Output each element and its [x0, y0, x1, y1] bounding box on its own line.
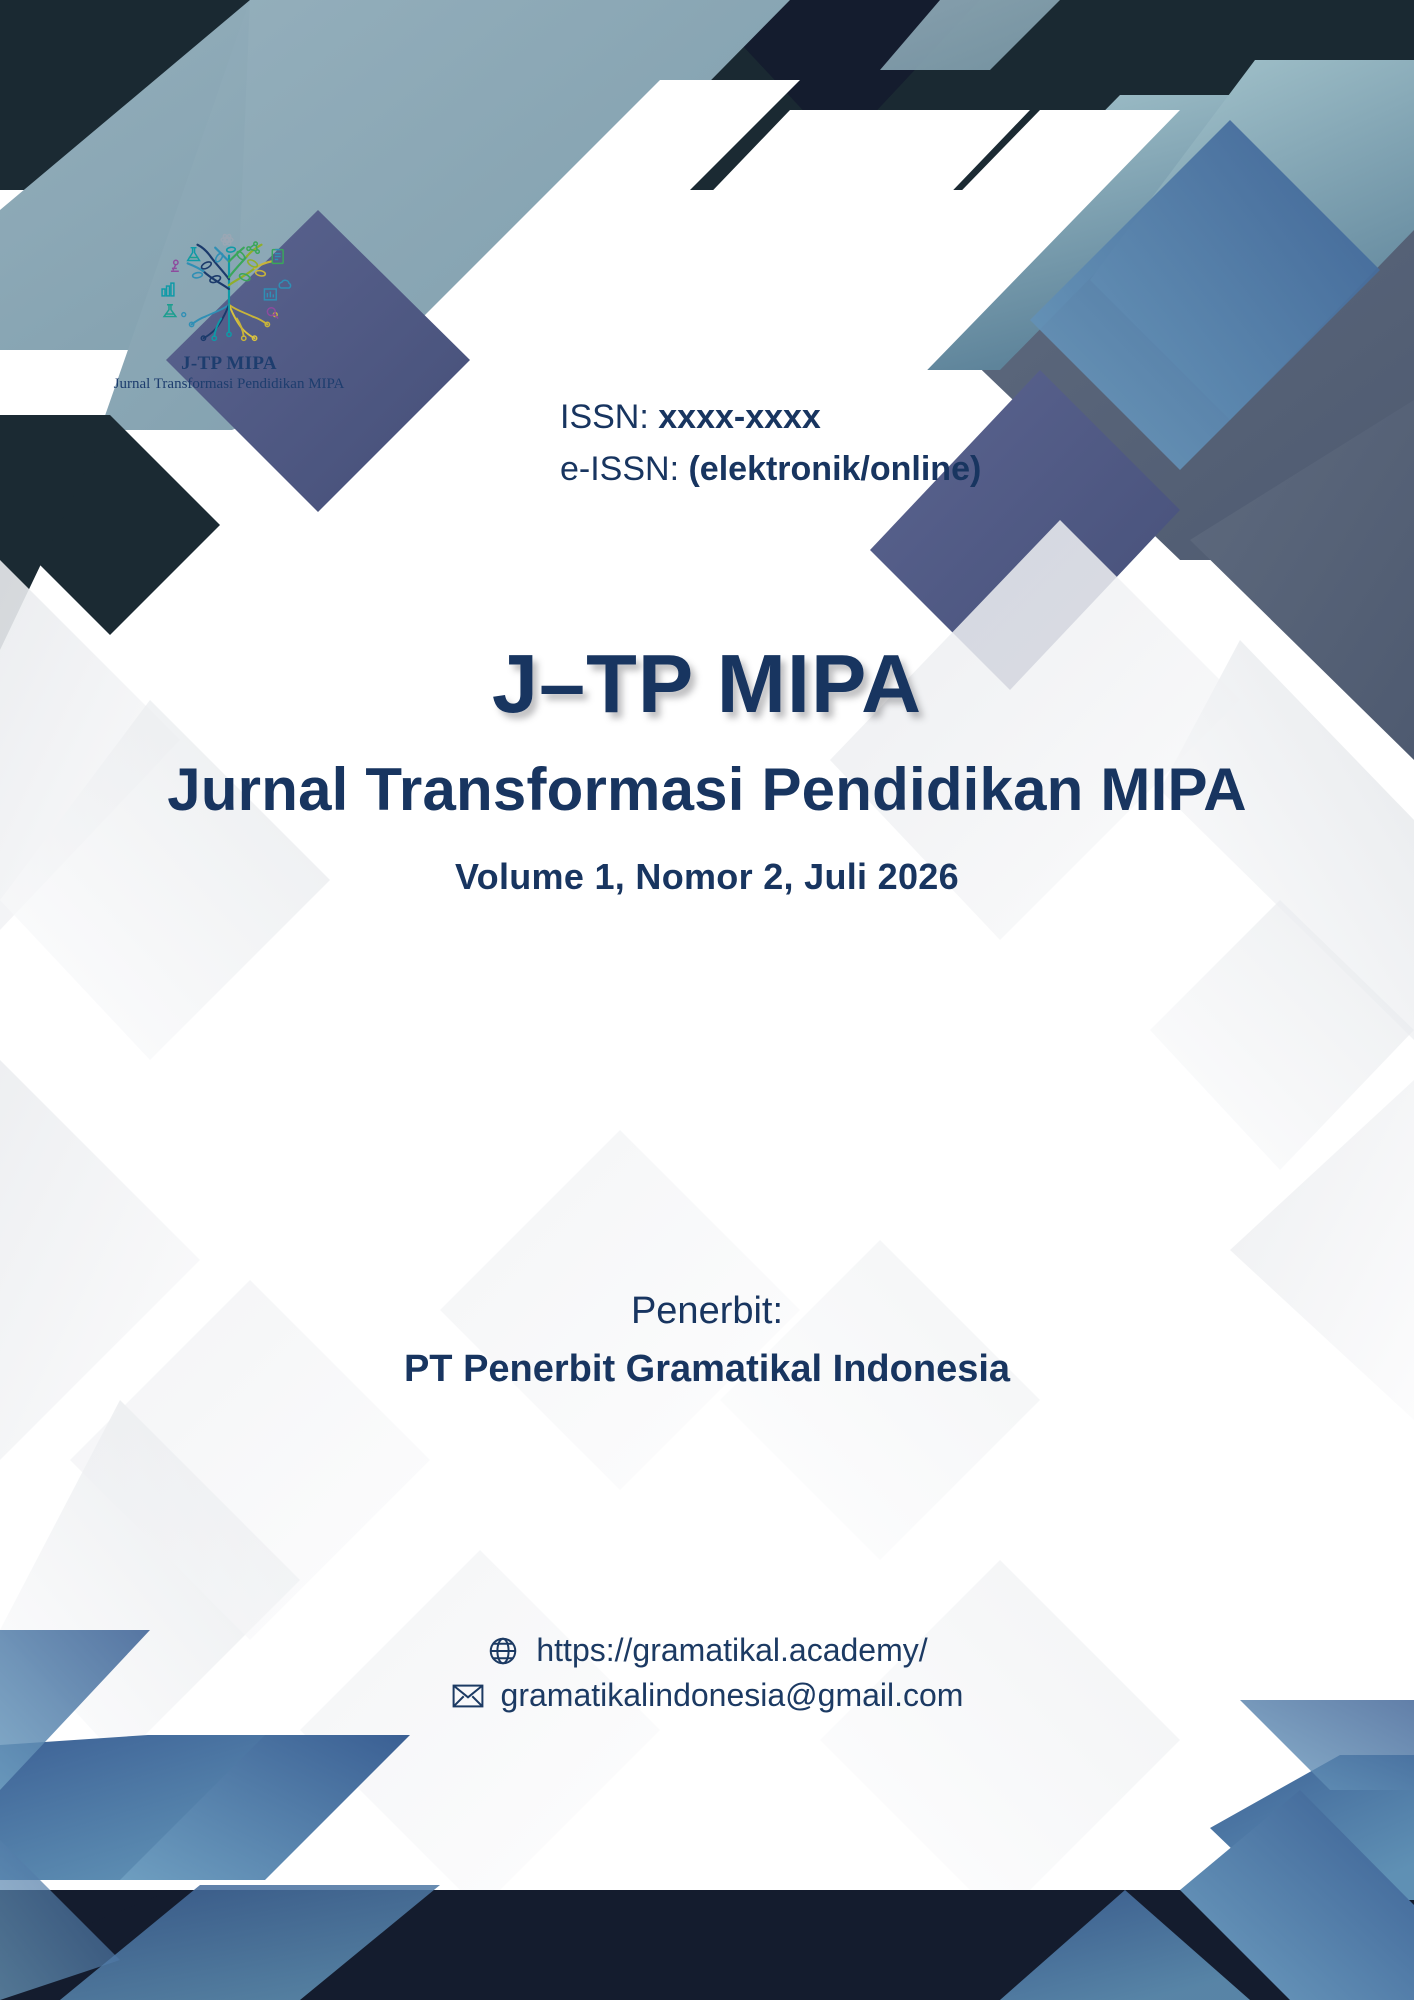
tree-of-knowledge-logo-icon: [149, 228, 309, 351]
title-block: J–TP MIPA Jurnal Transformasi Pendidikan…: [0, 640, 1414, 898]
contact-block: https://gramatikal.academy/ gramatikalin…: [0, 1632, 1414, 1714]
issn-electronic-value: (elektronik/online): [688, 450, 981, 488]
journal-logo: J-TP MIPA Jurnal Transformasi Pendidikan…: [104, 228, 354, 393]
volume-issue-line: Volume 1, Nomor 2, Juli 2026: [0, 856, 1414, 898]
envelope-icon: [451, 1679, 485, 1713]
logo-subtitle-text: Jurnal Transformasi Pendidikan MIPA: [114, 376, 345, 393]
issn-electronic-line: e-ISSN: (elektronik/online): [560, 444, 1320, 496]
website-row[interactable]: https://gramatikal.academy/: [486, 1632, 927, 1669]
logo-title-text: J-TP MIPA: [181, 353, 277, 375]
globe-icon: [486, 1634, 520, 1668]
publisher-label: Penerbit:: [0, 1285, 1414, 1337]
cover-content: J-TP MIPA Jurnal Transformasi Pendidikan…: [0, 0, 1414, 2000]
issn-print-line: ISSN: xxxx-xxxx: [560, 392, 1320, 444]
email-address: gramatikalindonesia@gmail.com: [501, 1677, 964, 1714]
issn-electronic-label: e-ISSN:: [560, 450, 688, 488]
issn-print-label: ISSN:: [560, 398, 658, 436]
journal-acronym-title: J–TP MIPA: [0, 640, 1414, 727]
journal-full-title: Jurnal Transformasi Pendidikan MIPA: [147, 753, 1267, 826]
issn-block: ISSN: xxxx-xxxx e-ISSN: (elektronik/onli…: [560, 392, 1320, 495]
journal-cover-page: J-TP MIPA Jurnal Transformasi Pendidikan…: [0, 0, 1414, 2000]
issn-print-value: xxxx-xxxx: [658, 398, 821, 436]
publisher-name: PT Penerbit Gramatikal Indonesia: [0, 1343, 1414, 1395]
website-url: https://gramatikal.academy/: [536, 1632, 927, 1669]
email-row[interactable]: gramatikalindonesia@gmail.com: [451, 1677, 964, 1714]
publisher-block: Penerbit: PT Penerbit Gramatikal Indones…: [0, 1285, 1414, 1396]
